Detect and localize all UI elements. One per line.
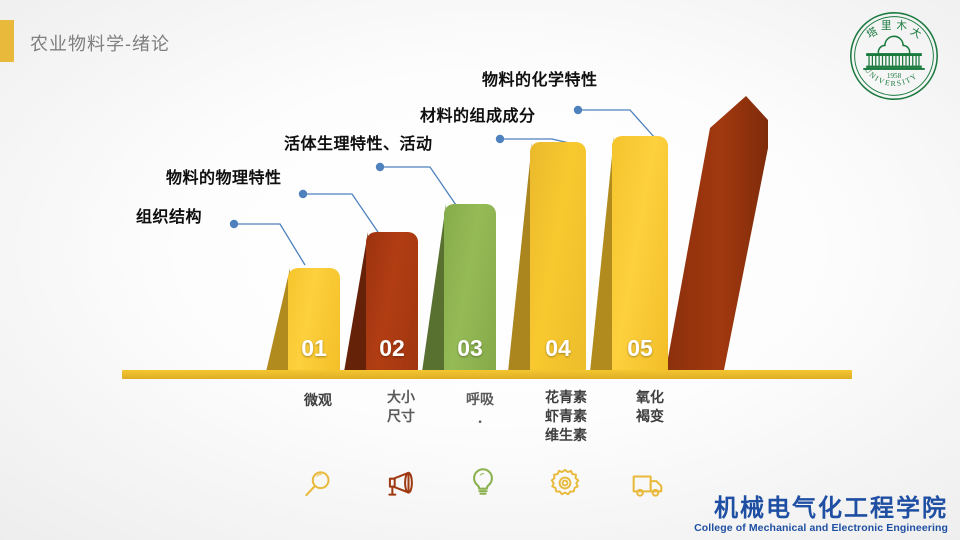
caption-line: 维生素: [511, 427, 621, 446]
lightbulb-icon: [466, 465, 500, 499]
bar-number: 02: [366, 335, 418, 362]
growth-arrow: [650, 88, 780, 378]
caption-line: 褐变: [595, 408, 705, 427]
truck-icon: [631, 468, 665, 502]
caption-05: 氧化 褐变: [595, 389, 705, 427]
megaphone-icon: [383, 467, 417, 501]
bar-number: 03: [444, 335, 496, 362]
callout-label-04: 材料的组成成分: [420, 102, 536, 126]
leader-dot: [230, 220, 238, 228]
callout-label-02: 物料的物理特性: [166, 164, 282, 188]
footer-en-name: College of Mechanical and Electronic Eng…: [694, 522, 948, 534]
leader-dot: [496, 135, 504, 143]
footer-cn-name: 机械电气化工程学院: [694, 495, 948, 522]
chart-baseline: [122, 370, 852, 379]
callout-label-03: 活体生理特性、活动: [284, 130, 433, 154]
leader-dot: [376, 163, 384, 171]
callout-label-05: 物料的化学特性: [482, 66, 598, 90]
footer-branding: 机械电气化工程学院 College of Mechanical and Elec…: [694, 495, 948, 534]
leader-dot: [574, 106, 582, 114]
leader-dot: [299, 190, 307, 198]
bar-01[interactable]: 01: [288, 268, 340, 372]
magnifier-icon: [301, 467, 335, 501]
bar-03[interactable]: 03: [444, 204, 496, 372]
slide-canvas: 农业物料学-绪论 塔 里 木 大: [0, 0, 960, 540]
bar-05[interactable]: 05: [612, 136, 668, 372]
infographic-chart: 01 02 03 04 05 组织结构 物料的物理特性: [0, 0, 960, 540]
bar-number: 04: [530, 335, 586, 362]
callout-label-01: 组织结构: [136, 203, 202, 227]
bar-number: 05: [612, 335, 668, 362]
bar-02[interactable]: 02: [366, 232, 418, 372]
bar-number: 01: [288, 335, 340, 362]
gear-icon: [548, 466, 582, 500]
caption-line: 氧化: [595, 389, 705, 408]
bar-04[interactable]: 04: [530, 142, 586, 372]
